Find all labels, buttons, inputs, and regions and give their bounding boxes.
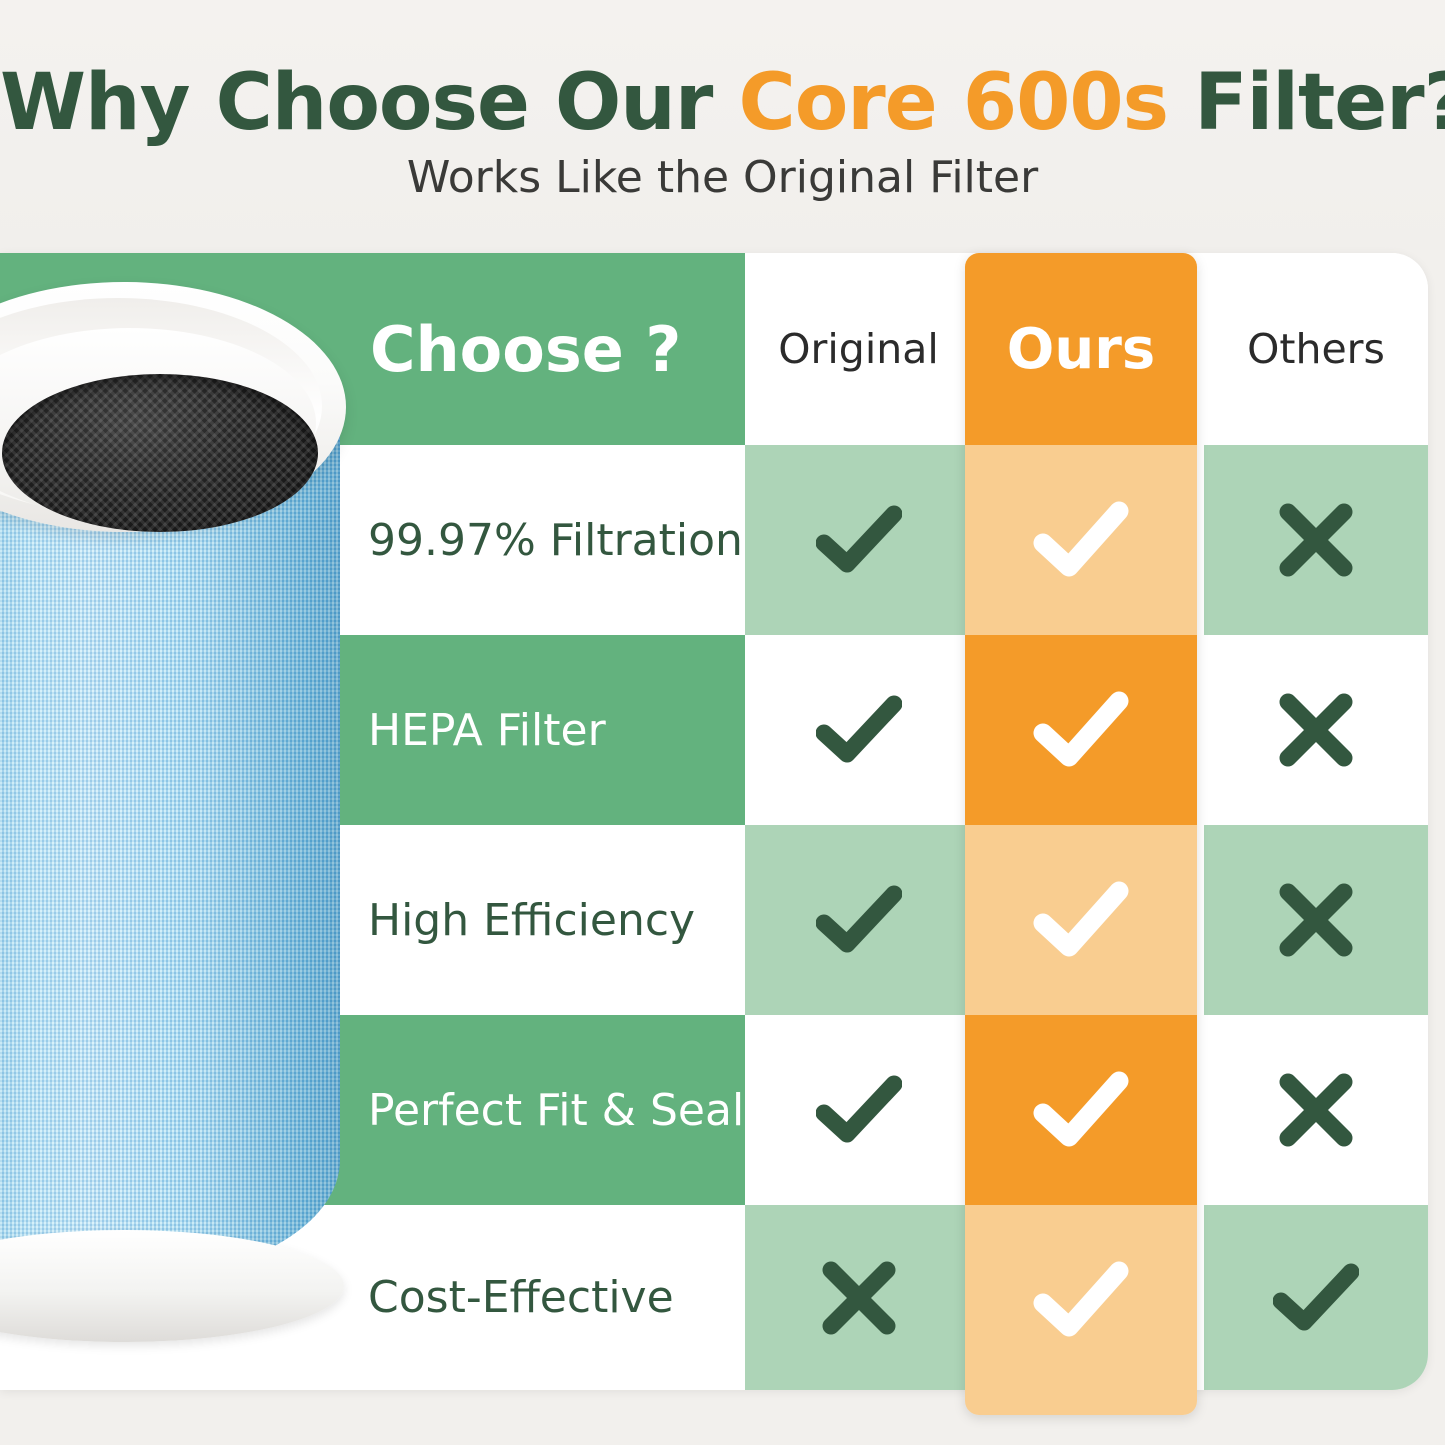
page-title-suffix: Filter? [1168,58,1445,148]
cross-icon [1276,880,1356,960]
feature-label: HEPA Filter [368,705,606,756]
column-header-others-label: Others [1247,325,1385,373]
mark-cell-others [1204,1205,1428,1390]
mark-cell-ours [965,445,1197,635]
cross-icon [1276,500,1356,580]
table-row: 99.97% Filtration [0,445,1428,635]
header-block: Why Choose Our Core 600s Filter? Works L… [0,0,1445,250]
mark-cell-original [745,1205,972,1390]
page-title-accent: Core 600s [738,58,1168,148]
column-header-others: Others [1204,253,1428,445]
feature-label: Cost-Effective [368,1272,674,1323]
mark-cell-original [745,1015,972,1205]
ours-highlight-column: Ours [965,253,1197,1415]
mark-cell-others [1204,635,1428,825]
comparison-table: Choose ? Original Others 99.97% Filtrati… [0,253,1428,1390]
column-header-ours-label: Ours [1007,317,1155,382]
cross-icon [1276,1070,1356,1150]
feature-label: Perfect Fit & Seal [368,1085,744,1136]
check-icon [816,883,902,957]
feature-column-header-cell: Choose ? [0,253,745,445]
feature-cell: HEPA Filter [0,635,745,825]
check-icon [1273,1261,1359,1335]
table-header-row: Choose ? Original Others [0,253,1428,445]
table-row: High Efficiency [0,825,1428,1015]
mark-cell-others [1204,445,1428,635]
feature-cell: Cost-Effective [0,1205,745,1390]
feature-cell: High Efficiency [0,825,745,1015]
check-icon [1033,689,1129,771]
check-icon [816,1073,902,1147]
mark-cell-others [1204,825,1428,1015]
feature-column-header-label: Choose ? [370,313,681,386]
mark-cell-others [1204,1015,1428,1205]
page-title: Why Choose Our Core 600s Filter? [0,58,1445,148]
check-icon [816,503,902,577]
mark-cell-original [745,635,972,825]
cross-icon [819,1258,899,1338]
feature-label: 99.97% Filtration [368,515,743,566]
column-header-original-label: Original [778,325,938,373]
cross-icon [1276,690,1356,770]
ours-column-foot [965,1395,1197,1415]
table-row: Cost-Effective [0,1205,1428,1390]
mark-cell-ours [965,1015,1197,1205]
table-row: HEPA Filter [0,635,1428,825]
check-icon [1033,1069,1129,1151]
column-header-ours: Ours [965,253,1197,445]
table-row: Perfect Fit & Seal [0,1015,1428,1205]
feature-cell: 99.97% Filtration [0,445,745,635]
check-icon [1033,499,1129,581]
mark-cell-ours [965,635,1197,825]
mark-cell-ours [965,825,1197,1015]
check-icon [1033,879,1129,961]
page-subtitle: Works Like the Original Filter [0,152,1445,203]
feature-cell: Perfect Fit & Seal [0,1015,745,1205]
mark-cell-ours [965,1205,1197,1395]
feature-label: High Efficiency [368,895,695,946]
column-header-original: Original [745,253,972,445]
check-icon [816,693,902,767]
page-title-prefix: Why Choose Our [0,58,738,148]
mark-cell-original [745,825,972,1015]
check-icon [1033,1259,1129,1341]
mark-cell-original [745,445,972,635]
